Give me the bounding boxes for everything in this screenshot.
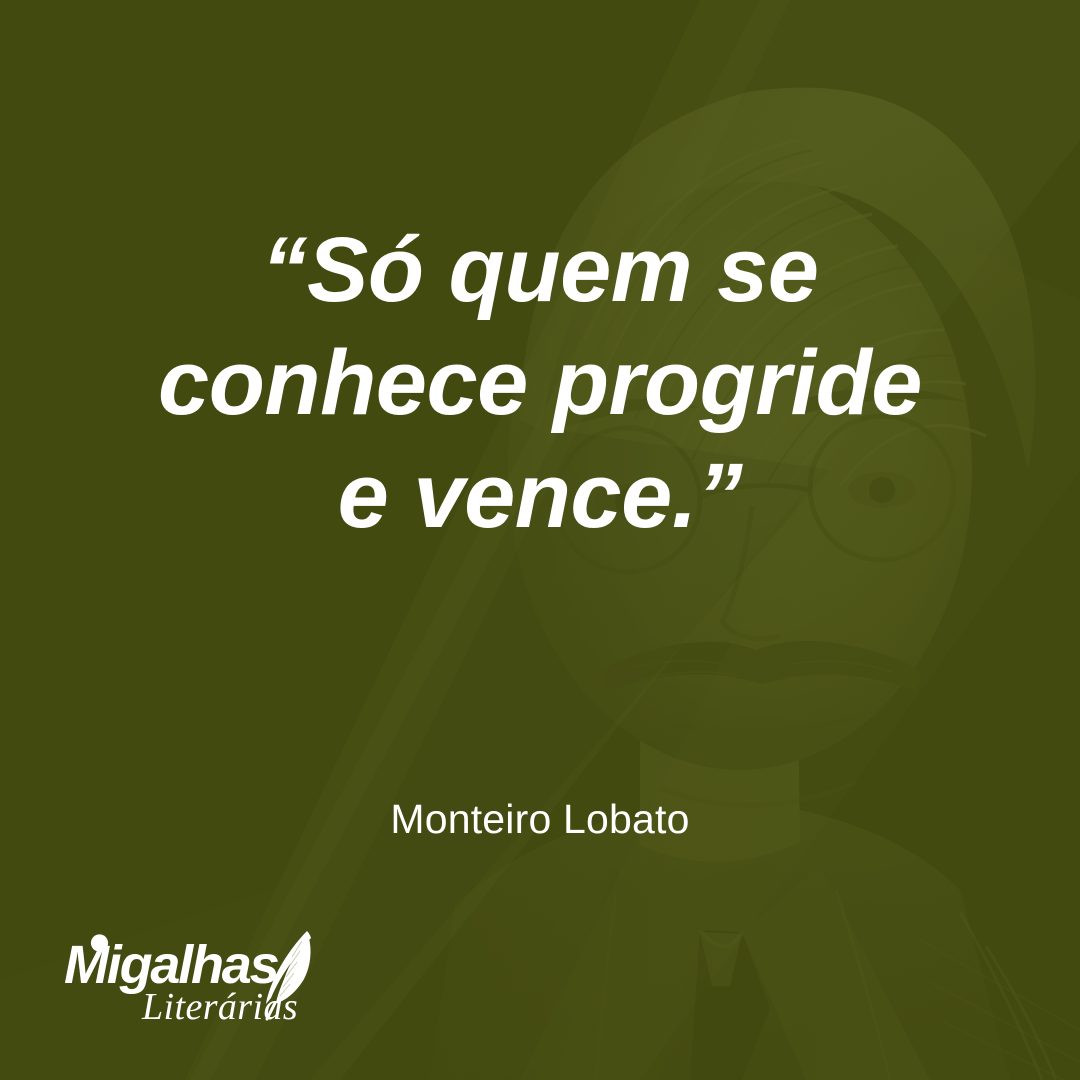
logo-secondary-text: Literárias [141, 986, 298, 1025]
quote-block: “Só quem se conhece progride e vence.” [0, 214, 1080, 553]
quote-author: Monteiro Lobato [0, 795, 1080, 843]
quote-line-3: e vence.” [70, 440, 1010, 553]
logo-i-dot-icon [91, 934, 108, 951]
quote-line-2: conhece progride [70, 327, 1010, 440]
quote-line-1: “Só quem se [70, 214, 1010, 327]
quote-card: “Só quem se conhece progride e vence.” M… [0, 0, 1080, 1080]
card-content: “Só quem se conhece progride e vence.” M… [0, 0, 1080, 1080]
migalhas-literarias-logo[interactable]: Migalhas Literárias [64, 925, 324, 1025]
